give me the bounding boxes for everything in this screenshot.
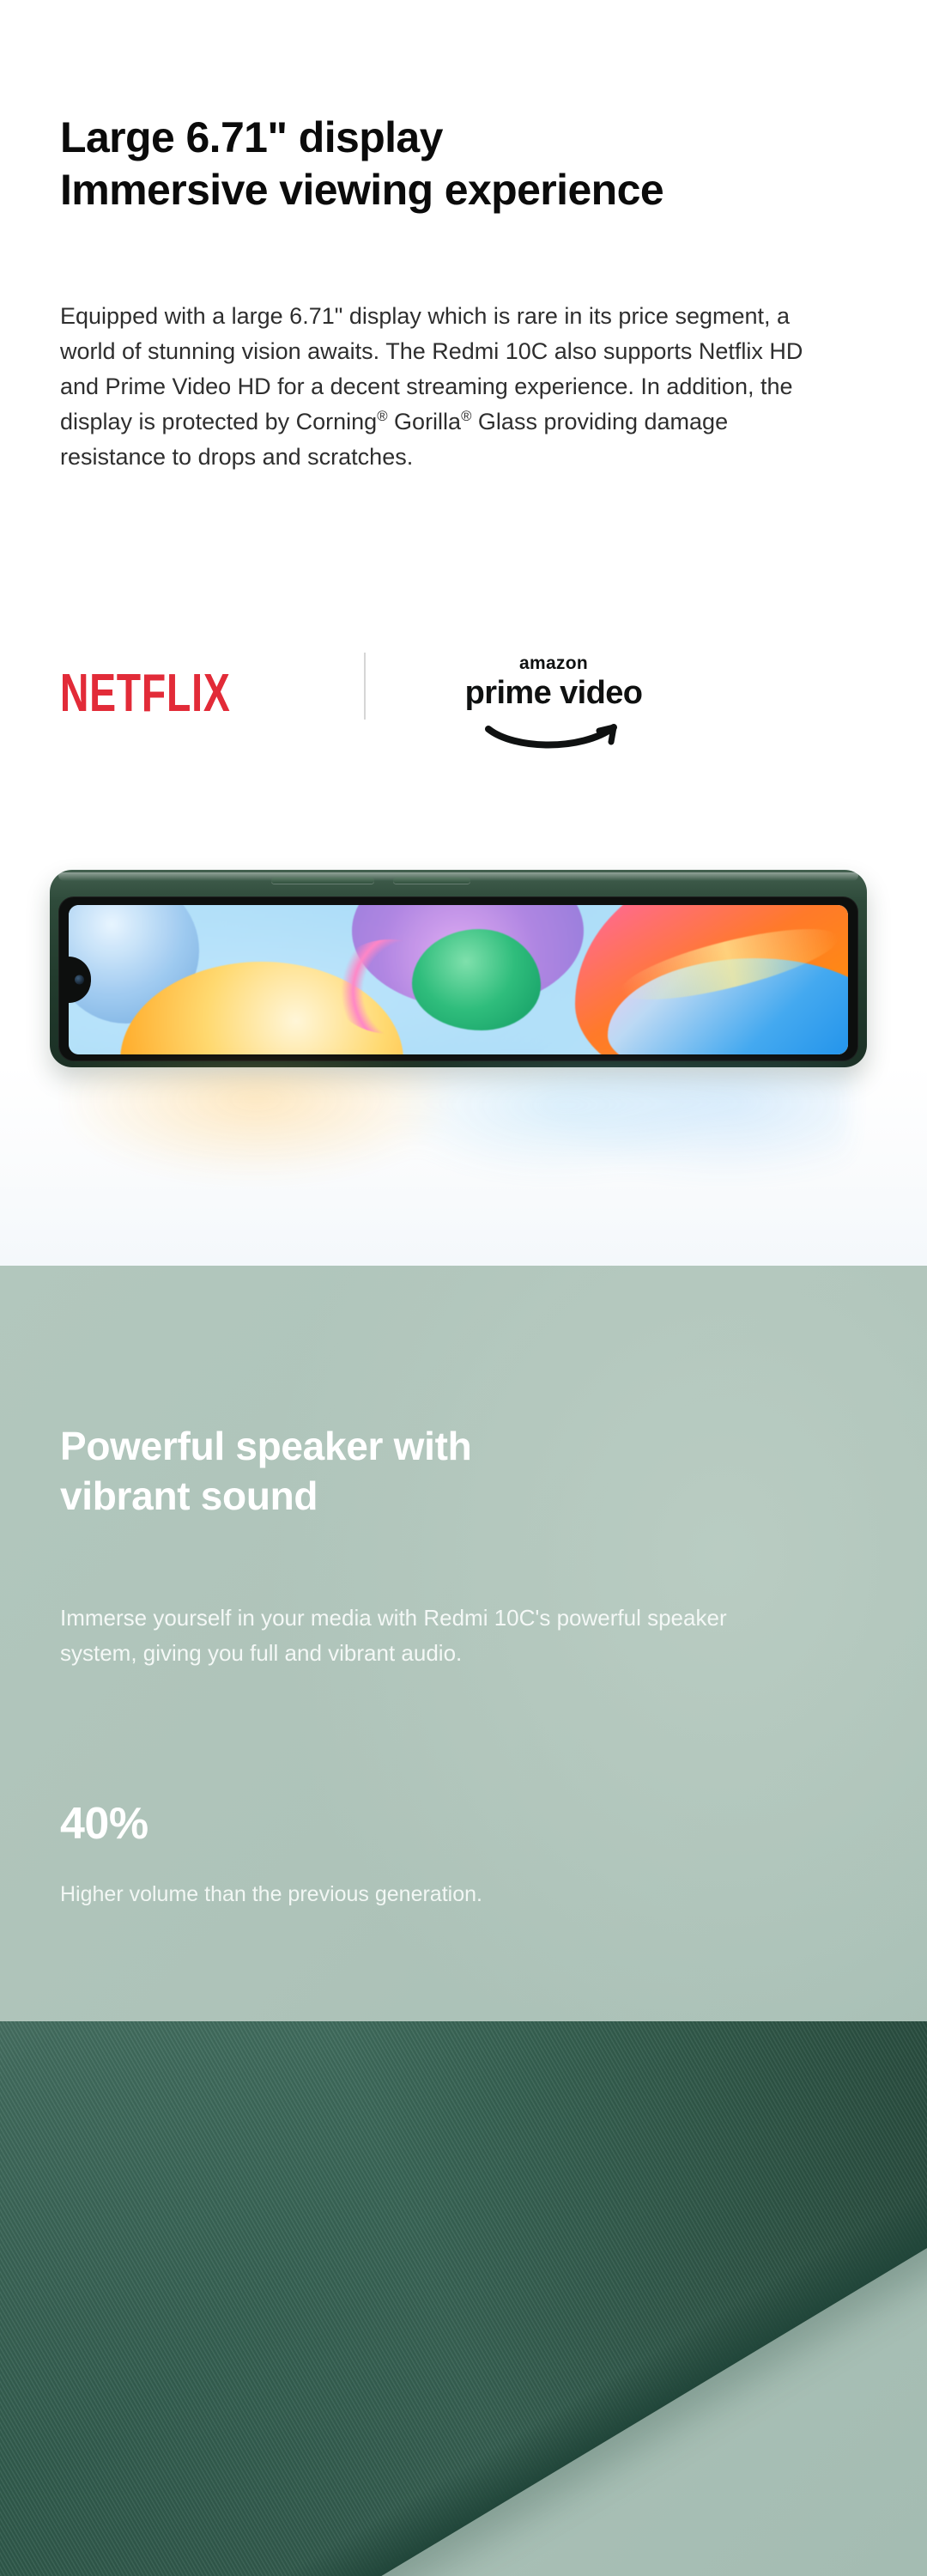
wallpaper-pink-arc <box>330 939 451 1034</box>
phone-reflection <box>69 1067 850 1213</box>
speaker-stat-caption: Higher volume than the previous generati… <box>60 1882 764 1907</box>
netflix-logo: NETFLIX <box>60 663 231 725</box>
phone-landscape-body <box>50 870 867 1067</box>
prime-video-wordmark: prime video <box>442 676 665 711</box>
phone-screen-wallpaper <box>69 905 848 1054</box>
display-body-text: Equipped with a large 6.71" display whic… <box>60 299 837 475</box>
amazon-prime-video-logo: amazon prime video <box>442 653 665 747</box>
phone-back-panel <box>0 2021 927 2576</box>
volume-button <box>271 878 374 884</box>
headline-line-2: Immersive viewing experience <box>60 164 884 216</box>
speaker-stat-value: 40% <box>60 1798 148 1850</box>
speaker-heading-line-2: vibrant sound <box>60 1473 318 1518</box>
speaker-heading-line-1: Powerful speaker with <box>60 1424 471 1468</box>
headline-line-1: Large 6.71" display <box>60 113 443 161</box>
streaming-logos-row: NETFLIX amazon prime video <box>60 653 678 747</box>
logo-divider <box>364 653 366 720</box>
amazon-smile-arrow-icon <box>485 724 622 750</box>
power-button <box>393 878 470 884</box>
display-headline: Large 6.71" display Immersive viewing ex… <box>60 112 884 216</box>
speaker-body-text: Immerse yourself in your media with Redm… <box>60 1601 764 1670</box>
amazon-wordmark: amazon <box>442 654 665 672</box>
speaker-feature-section: Powerful speaker with vibrant sound Imme… <box>0 1266 927 2576</box>
speaker-heading: Powerful speaker with vibrant sound <box>60 1422 798 1522</box>
phone-bezel <box>58 896 858 1061</box>
phone-front-image <box>0 846 927 1266</box>
display-feature-section: Large 6.71" display Immersive viewing ex… <box>0 0 927 1266</box>
phone-back-image <box>0 2021 927 2576</box>
